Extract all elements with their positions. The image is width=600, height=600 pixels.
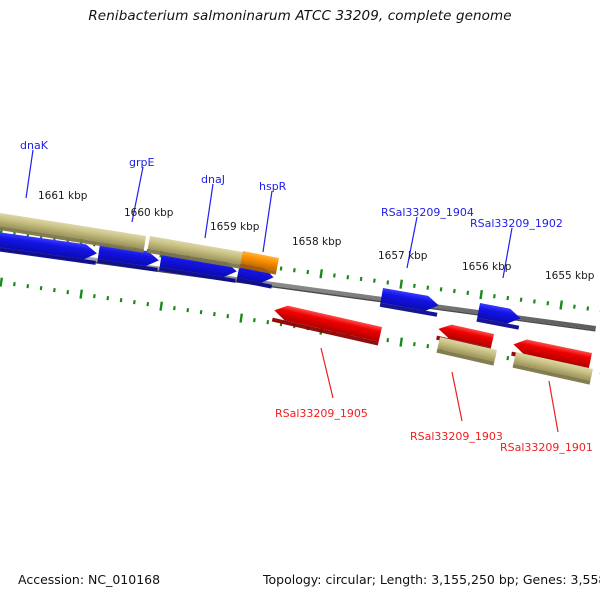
sequence-tick-minor	[413, 284, 416, 288]
sequence-tick-major	[479, 290, 483, 299]
gene-label[interactable]: dnaK	[20, 140, 48, 152]
genome-stats-text: Topology: circular; Length: 3,155,250 bp…	[263, 572, 600, 587]
sequence-tick-minor	[106, 296, 109, 300]
sequence-tick-minor	[546, 301, 549, 305]
gene-label[interactable]: grpE	[129, 157, 154, 169]
gene-arrow-forward[interactable]	[476, 303, 522, 330]
label-leader-line	[321, 348, 333, 398]
sequence-tick-major	[79, 290, 83, 299]
scale-tick-label: 1660 kbp	[124, 207, 173, 219]
sequence-tick-minor	[413, 342, 416, 346]
label-leader-line	[26, 150, 33, 198]
sequence-tick-minor	[133, 300, 136, 304]
label-leader-line	[549, 381, 558, 432]
sequence-tick-minor	[426, 344, 429, 348]
sequence-tick-minor	[586, 306, 589, 310]
sequence-tick-minor	[200, 310, 203, 314]
sequence-tick-minor	[373, 279, 376, 283]
sequence-tick-minor	[306, 270, 309, 274]
sequence-tick-minor	[466, 291, 469, 295]
sequence-tick-minor	[346, 275, 349, 279]
gene-label[interactable]: RSal33209_1905	[275, 408, 368, 420]
sequence-tick-major	[319, 269, 323, 278]
label-leader-line	[263, 191, 272, 252]
gene-label[interactable]: RSal33209_1901	[500, 442, 593, 454]
sequence-tick-minor	[280, 266, 283, 270]
sequence-tick-minor	[573, 305, 576, 309]
label-leader-lines	[26, 150, 558, 432]
sequence-tick-minor	[333, 273, 336, 277]
sequence-tick-minor	[360, 277, 363, 281]
gene-label[interactable]: hspR	[259, 181, 286, 193]
scale-tick-label: 1655 kbp	[545, 270, 594, 282]
sequence-tick-minor	[386, 280, 389, 284]
sequence-tick-minor	[26, 284, 29, 288]
sequence-tick-minor	[186, 308, 189, 312]
gene-label[interactable]: RSal33209_1904	[381, 207, 474, 219]
sequence-tick-minor	[93, 294, 96, 298]
sequence-tick-minor	[146, 302, 149, 306]
gene-arrow-reverse[interactable]	[272, 303, 382, 346]
sequence-tick-minor	[386, 338, 389, 342]
sequence-tick-major	[559, 300, 563, 309]
gene-arrow-forward[interactable]	[380, 288, 440, 317]
sequence-tick-minor	[40, 286, 43, 290]
sequence-tick-minor	[520, 298, 523, 302]
sequence-tick-minor	[453, 289, 456, 293]
sequence-tick-minor	[253, 318, 256, 322]
scale-tick-label: 1656 kbp	[462, 261, 511, 273]
scale-tick-label: 1657 kbp	[378, 250, 427, 262]
sequence-tick-minor	[493, 294, 496, 298]
scale-tick-label: 1659 kbp	[210, 221, 259, 233]
sequence-tick-minor	[213, 312, 216, 316]
sequence-tick-major	[399, 280, 403, 289]
sequence-tick-major	[0, 278, 3, 287]
sequence-tick-minor	[226, 314, 229, 318]
gene-label[interactable]: RSal33209_1902	[470, 218, 563, 230]
sequence-tick-major	[399, 338, 403, 347]
sequence-tick-minor	[426, 286, 429, 290]
sequence-tick-minor	[53, 288, 56, 292]
sequence-tick-major	[159, 302, 163, 311]
sequence-tick-minor	[66, 290, 69, 294]
sequence-tick-minor	[13, 282, 16, 286]
sequence-tick-major	[239, 314, 243, 323]
sequence-tick-minor	[173, 306, 176, 310]
gene-label[interactable]: dnaJ	[201, 174, 225, 186]
genome-map-viewer: Renibacterium salmoninarum ATCC 33209, c…	[0, 0, 600, 600]
gene-label[interactable]: RSal33209_1903	[410, 431, 503, 443]
sequence-tick-minor	[440, 287, 443, 291]
sequence-tick-minor	[266, 320, 269, 324]
sequence-tick-minor	[533, 299, 536, 303]
label-leader-line	[452, 372, 462, 421]
sequence-tick-minor	[120, 298, 123, 302]
sequence-tick-minor	[506, 356, 509, 360]
scale-tick-label: 1658 kbp	[292, 236, 341, 248]
genome-map-canvas[interactable]	[0, 0, 600, 600]
scale-tick-label: 1661 kbp	[38, 190, 87, 202]
sequence-tick-minor	[293, 268, 296, 272]
sequence-tick-minor	[506, 296, 509, 300]
accession-text: Accession: NC_010168	[18, 572, 160, 587]
